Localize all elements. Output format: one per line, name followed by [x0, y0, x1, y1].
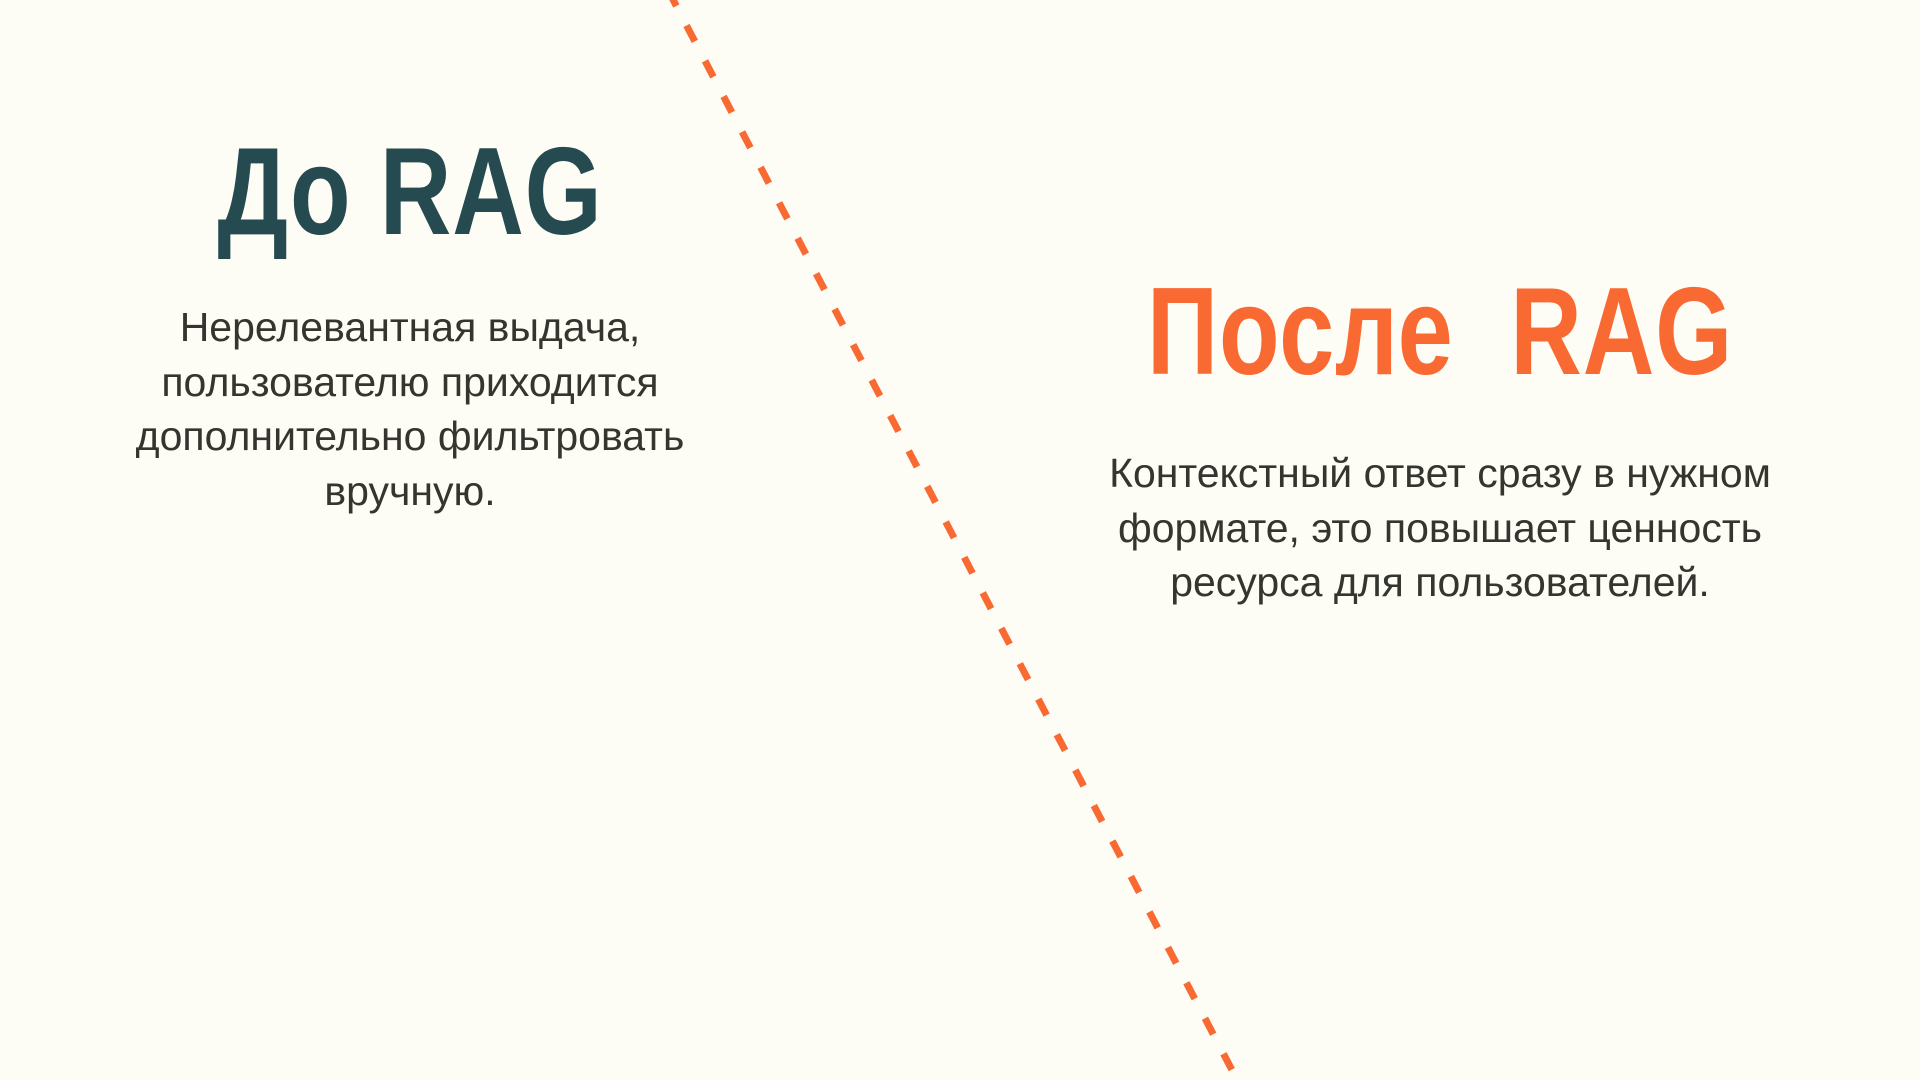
slide-canvas: До RAG Нерелевантная выдача, пользовател… — [0, 0, 1920, 1080]
before-rag-heading: До RAG — [114, 130, 706, 254]
before-rag-description: Нерелевантная выдача, пользователю прихо… — [40, 300, 780, 518]
after-rag-heading: После RAG — [1136, 270, 1744, 394]
after-rag-description: Контекстный ответ сразу в нужном формате… — [1060, 446, 1820, 610]
after-rag-panel: После RAG Контекстный ответ сразу в нужн… — [1060, 270, 1820, 610]
before-rag-panel: До RAG Нерелевантная выдача, пользовател… — [40, 130, 780, 518]
